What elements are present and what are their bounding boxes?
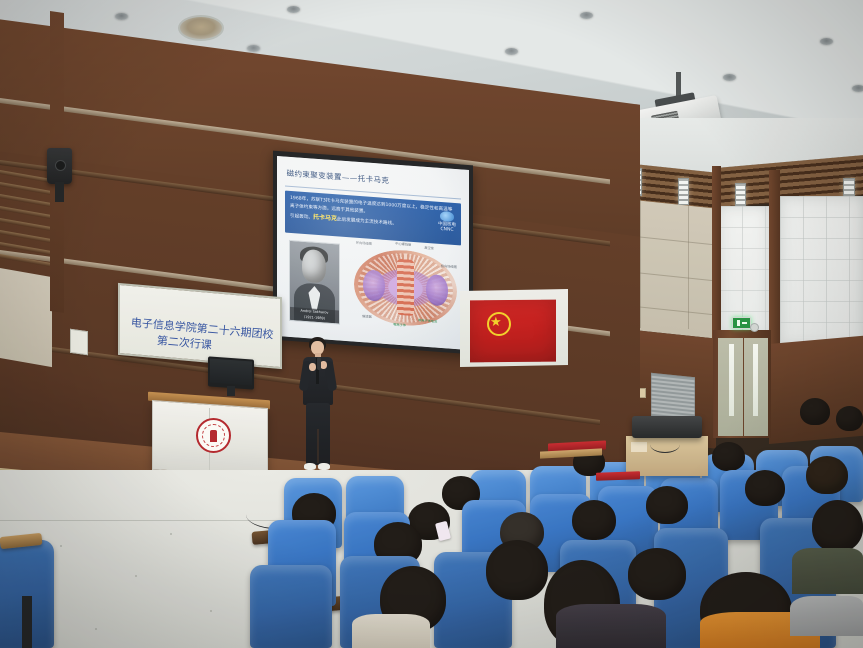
cnnc-logo-icon (440, 211, 454, 222)
seat-pedestal (22, 596, 32, 648)
ceiling-downlight (820, 38, 833, 45)
carton-label (631, 442, 647, 452)
tokamak-cutaway-left (363, 270, 385, 302)
presenter-right-hand (320, 361, 327, 369)
microphone (317, 357, 321, 370)
audience-dark-patterned-jacket (556, 604, 666, 648)
presenter-shoe-right (318, 463, 330, 470)
stone-joint (640, 200, 641, 328)
security-camera (750, 323, 759, 332)
audience-head (745, 470, 785, 506)
audience-grey-hoodie (790, 596, 863, 636)
speaker-cone-icon (55, 160, 66, 171)
slide-body-suffix: 此后发展成为主流技术路线。 (337, 217, 397, 226)
audience-head-foreground (812, 500, 863, 552)
audience-head (806, 456, 848, 494)
audience-olive-jacket (792, 548, 863, 594)
ceiling-downlight (287, 6, 300, 13)
red-table-cloth (596, 471, 640, 481)
diagram-label: 中心螺线管 (395, 241, 411, 247)
audience-head-foreground (486, 540, 548, 600)
diagram-label: 真空室 (424, 245, 434, 251)
flag-star-icon: ★ (490, 315, 502, 328)
tokamak-central-solenoid (397, 258, 414, 315)
presenter-shoe-left (304, 463, 316, 470)
seat[interactable] (250, 565, 332, 648)
stone-joint (688, 205, 689, 329)
slide-body-line1: 1968年，苏联T3托卡马克装置的电子温度达到1000万度以上，稳定性和高温等离… (290, 196, 452, 215)
ceiling-downlight (723, 74, 736, 81)
audience-head (800, 398, 830, 425)
podium-university-crest (196, 418, 231, 453)
exit-arrow-icon (742, 322, 747, 324)
slide-title: 磁约束聚变装置——托卡马克 (287, 167, 390, 186)
lamp-grill (736, 184, 745, 208)
lamp-grill (679, 179, 688, 204)
slide-corporate-logo: 中国核电 CNNC (438, 210, 456, 233)
window-mullion (769, 170, 780, 352)
window-grid (780, 196, 863, 346)
portrait-caption: Andrei Sakharov (1921-1989) (290, 306, 340, 323)
ceiling-downlight (115, 13, 128, 20)
diagram-label: 偏滤器 (362, 313, 372, 319)
ceiling-downlight (852, 85, 863, 92)
monitor-stand (227, 386, 235, 396)
wall-sconce-lamp (678, 178, 689, 205)
presenter-left-hand (309, 363, 316, 371)
audience-white-jacket (352, 614, 430, 648)
diagram-label: 环向场线圈 (356, 240, 372, 246)
wall-notice-card (70, 329, 88, 356)
crest-shield-icon (210, 430, 217, 442)
presenter (296, 337, 340, 477)
slide-body-text: 1968年，苏联T3托卡马克装置的电子温度达到1000万度以上，稳定性和高温等离… (290, 195, 456, 233)
wall-air-vent-grille (651, 373, 695, 422)
ceiling-downlight (580, 12, 593, 19)
left-wall-stone-panel (0, 268, 52, 367)
presenter-leg-gap (317, 429, 319, 463)
slide-highlight-band: 1968年，苏联T3托卡马克装置的电子温度达到1000万度以上，稳定性和高温等离… (285, 191, 462, 245)
presentation-slide: 磁约束聚变装置——托卡马克 1968年，苏联T3托卡马克装置的电子温度达到100… (277, 156, 469, 350)
projector-cable (650, 436, 680, 453)
tokamak-cutaway-right (426, 274, 448, 306)
podium-monitor[interactable] (208, 356, 254, 389)
projection-screen: 磁约束聚变装置——托卡马克 1968年，苏联T3托卡马克装置的电子温度达到100… (277, 156, 469, 350)
diagram-label: 等离子体 (393, 322, 406, 328)
ceiling-air-vent (178, 15, 224, 41)
audience-head (712, 442, 745, 471)
audience-head (836, 406, 863, 431)
tokamak-diagram: 环向场线圈 中心螺线管 真空室 极向场线圈 等离子体 偏滤器 等离子体电流 (354, 246, 458, 329)
monitor-screen (210, 359, 252, 386)
ceiling-downlight (505, 48, 518, 55)
emergency-exit-sign (732, 317, 751, 329)
spare-projector (632, 416, 702, 438)
diagram-label: 极向场线圈 (441, 263, 457, 269)
slide-body-prefix: 引起轰动。 (290, 214, 313, 221)
audience-head-foreground (628, 548, 686, 600)
speaker-stem (55, 182, 64, 202)
slide-body-highlight: 托卡马克 (313, 213, 337, 222)
slide-portrait-photo: Andrei Sakharov (1921-1989) (289, 240, 341, 325)
audience-head (572, 500, 616, 540)
door-glass-panel (729, 344, 734, 416)
door-glass-panel (753, 344, 758, 416)
lecture-hall-photo: 磁约束聚变装置——托卡马克 1968年，苏联T3托卡马克装置的电子温度达到100… (0, 0, 863, 648)
ceiling-downlight (247, 45, 260, 52)
audience-head (646, 486, 688, 524)
frosted-window-panel (780, 196, 863, 346)
window-mullion (712, 166, 721, 346)
wall-speaker (47, 148, 72, 184)
youth-league-flag (470, 300, 556, 363)
logo-text-en: CNNC (440, 227, 453, 233)
exit-running-man-icon (737, 320, 740, 326)
